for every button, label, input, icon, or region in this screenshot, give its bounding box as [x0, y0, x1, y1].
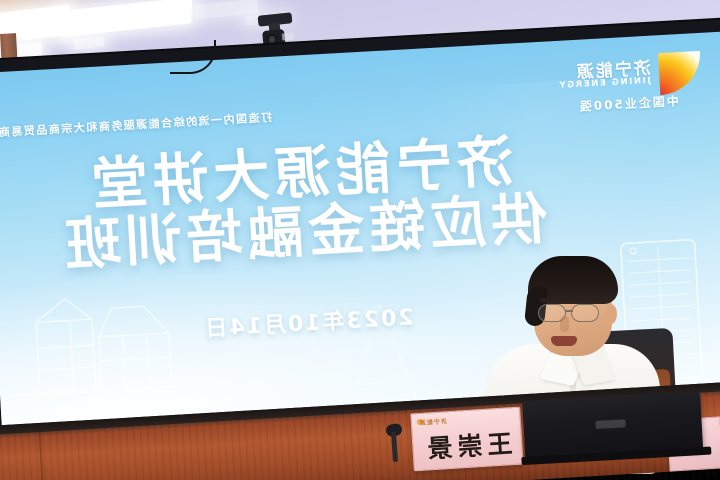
slide-subtitle: 打造国内一流的综合能源服务商和大宗商品贸易商	[0, 102, 397, 140]
speaker-eyebrow	[573, 297, 597, 302]
speaker-nose	[560, 316, 569, 332]
speaker-mouth	[551, 336, 577, 346]
brand-name-en: JINING ENERGY	[558, 76, 651, 91]
speaker-ear	[605, 304, 617, 324]
nameplate-name: 王崇景	[411, 424, 523, 467]
photo-scene: 济宁能源 JINING ENERGY 中国企业500强 打造国内一流的综合能源服…	[0, 0, 720, 480]
eyeglasses-icon	[571, 304, 599, 322]
eyeglasses-bridge	[565, 310, 573, 312]
brand-logo: 济宁能源 JINING ENERGY 中国企业500强	[510, 49, 703, 128]
laptop	[522, 391, 704, 471]
nameplate: 济宁能源 王崇景	[410, 407, 523, 472]
nameplate-org-mark: 济宁能源	[419, 416, 448, 427]
camera-badge	[282, 32, 295, 40]
ceiling-led-panel	[74, 36, 105, 49]
brand-rank-badge: 中国企业500强	[577, 92, 679, 115]
laptop-brand-logo-icon	[595, 419, 625, 429]
quarter-circle-gradient-logo-icon	[658, 51, 702, 95]
camera-lens-icon	[267, 34, 277, 45]
